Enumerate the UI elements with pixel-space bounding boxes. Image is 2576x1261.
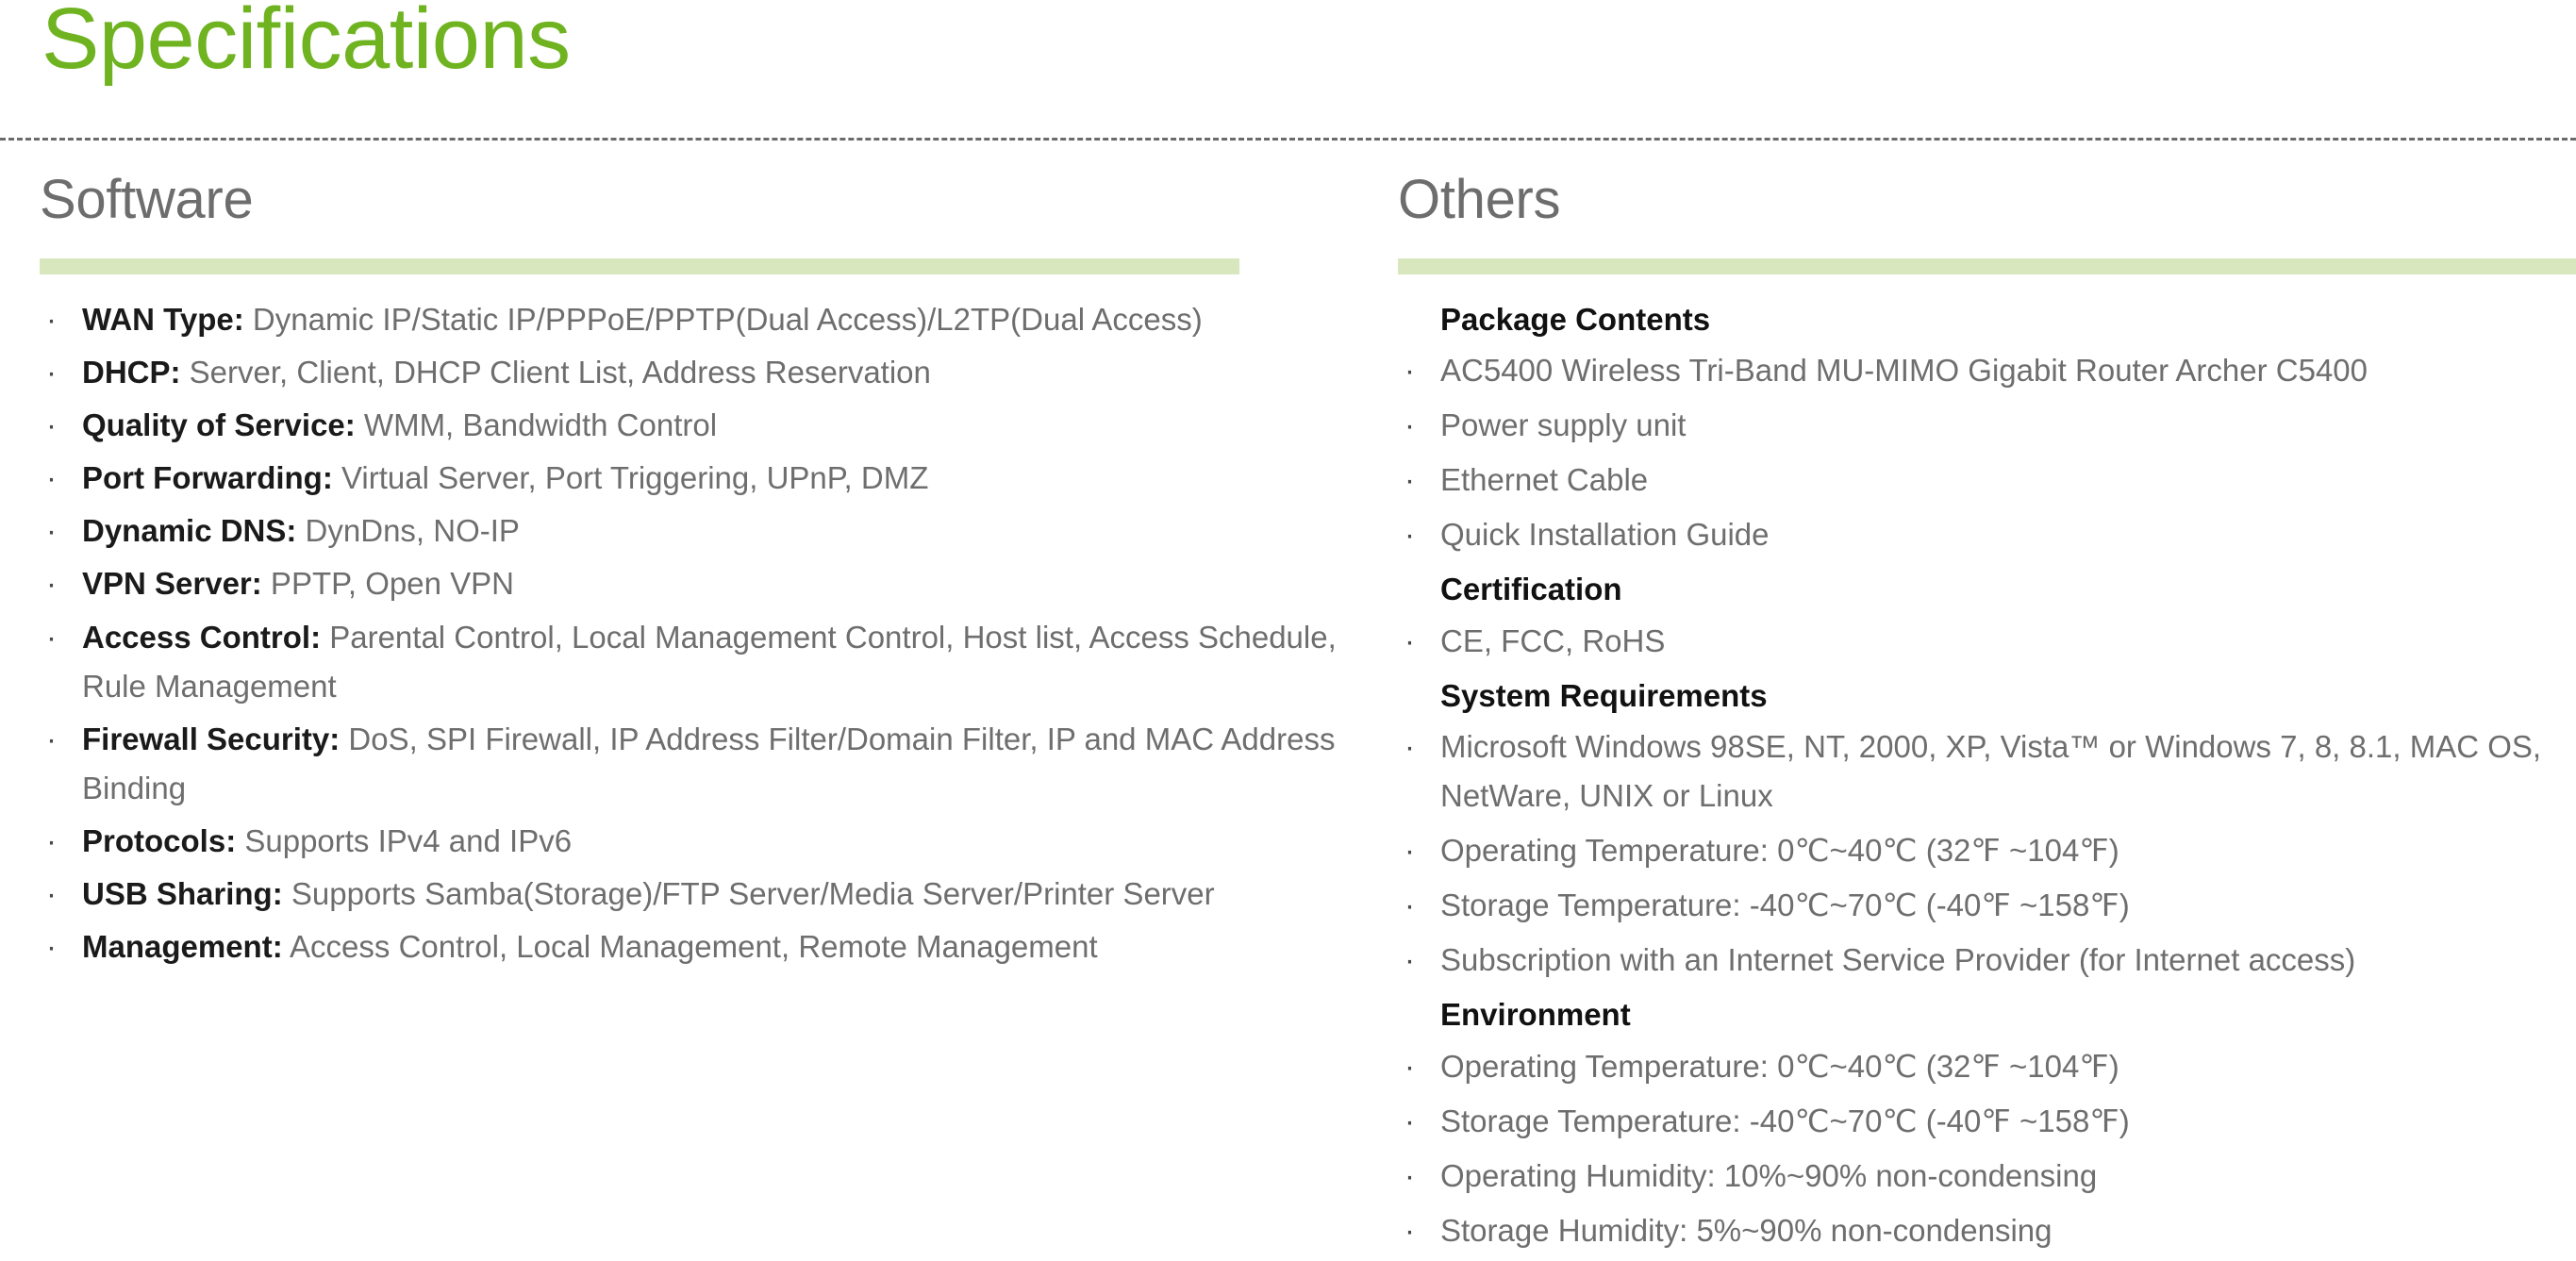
spec-label: Firewall Security: (82, 722, 340, 756)
spec-value: Supports IPv4 and IPv6 (236, 823, 572, 858)
spec-label: Quality of Service: (82, 407, 356, 442)
bullet-icon: · (1404, 1206, 1415, 1255)
spec-value: AC5400 Wireless Tri-Band MU-MIMO Gigabit… (1440, 353, 2368, 388)
bullet-icon: · (46, 401, 57, 450)
bullet-icon: · (46, 506, 57, 556)
spec-value: PPTP, Open VPN (262, 566, 514, 601)
content-columns: Software ·WAN Type: Dynamic IP/Static IP… (0, 166, 2576, 1261)
software-column: Software ·WAN Type: Dynamic IP/Static IP… (0, 166, 1377, 975)
spec-item: ·Storage Humidity: 5%~90% non-condensing (1398, 1206, 2576, 1255)
spec-item: ·Operating Humidity: 10%~90% non-condens… (1398, 1152, 2576, 1201)
spec-value: Server, Client, DHCP Client List, Addres… (181, 355, 931, 390)
spec-label: WAN Type: (82, 302, 244, 337)
spec-value: Storage Humidity: 5%~90% non-condensing (1440, 1213, 2052, 1248)
spec-value: Operating Temperature: 0℃~40℃ (32℉ ~104℉… (1440, 1049, 2119, 1084)
bullet-icon: · (1404, 722, 1415, 772)
bullet-icon: · (1404, 510, 1415, 559)
spec-label: Port Forwarding: (82, 460, 333, 495)
spec-item: ·Microsoft Windows 98SE, NT, 2000, XP, V… (1398, 722, 2576, 821)
spec-label: Access Control: (82, 620, 321, 655)
spec-value: Storage Temperature: -40℃~70℃ (-40℉ ~158… (1440, 888, 2130, 922)
bullet-icon: · (46, 715, 57, 764)
spec-value: Operating Temperature: 0℃~40℃ (32℉ ~104℉… (1440, 833, 2119, 868)
spec-item: ·DHCP: Server, Client, DHCP Client List,… (40, 348, 1377, 397)
bullet-icon: · (46, 559, 57, 608)
spec-label: DHCP: (82, 355, 181, 390)
bullet-icon: · (1404, 346, 1415, 395)
software-list: ·WAN Type: Dynamic IP/Static IP/PPPoE/PP… (40, 295, 1377, 972)
spec-value: Subscription with an Internet Service Pr… (1440, 942, 2355, 977)
spec-label: Protocols: (82, 823, 236, 858)
spec-label: VPN Server: (82, 566, 262, 601)
spec-label: Dynamic DNS: (82, 513, 296, 548)
spec-subheading: Package Contents (1398, 295, 2576, 344)
bullet-icon: · (1404, 1042, 1415, 1091)
spec-value: Power supply unit (1440, 407, 1686, 442)
spec-value: Microsoft Windows 98SE, NT, 2000, XP, Vi… (1440, 729, 2541, 813)
others-list: Package Contents·AC5400 Wireless Tri-Ban… (1398, 295, 2576, 1255)
bullet-icon: · (1404, 456, 1415, 505)
spec-value: Quick Installation Guide (1440, 517, 1770, 552)
others-heading: Others (1398, 166, 2576, 230)
spec-item: ·Firewall Security: DoS, SPI Firewall, I… (40, 715, 1377, 813)
spec-item: ·Operating Temperature: 0℃~40℃ (32℉ ~104… (1398, 1042, 2576, 1091)
spec-value: Dynamic IP/Static IP/PPPoE/PPTP(Dual Acc… (244, 302, 1203, 337)
spec-subheading: Certification (1398, 565, 2576, 614)
spec-item: ·VPN Server: PPTP, Open VPN (40, 559, 1377, 608)
spec-value: Storage Temperature: -40℃~70℃ (-40℉ ~158… (1440, 1103, 2130, 1138)
bullet-icon: · (1404, 936, 1415, 985)
others-column: Others Package Contents·AC5400 Wireless … (1377, 166, 2576, 1261)
spec-value: DynDns, NO-IP (296, 513, 520, 548)
bullet-icon: · (1404, 401, 1415, 450)
spec-subheading: System Requirements (1398, 672, 2576, 721)
spec-value: Operating Humidity: 10%~90% non-condensi… (1440, 1158, 2097, 1193)
specifications-slide: Specifications Software ·WAN Type: Dynam… (0, 0, 2576, 1222)
page-title: Specifications (42, 0, 571, 88)
bullet-icon: · (46, 348, 57, 397)
bullet-icon: · (46, 817, 57, 866)
spec-subheading: Environment (1398, 990, 2576, 1039)
spec-item: ·Subscription with an Internet Service P… (1398, 936, 2576, 985)
spec-item: ·Quality of Service: WMM, Bandwidth Cont… (40, 401, 1377, 450)
bullet-icon: · (1404, 881, 1415, 930)
spec-item: ·Power supply unit (1398, 401, 2576, 450)
bullet-icon: · (1404, 826, 1415, 875)
spec-item: ·WAN Type: Dynamic IP/Static IP/PPPoE/PP… (40, 295, 1377, 344)
software-heading: Software (40, 166, 1377, 230)
spec-item: ·Storage Temperature: -40℃~70℃ (-40℉ ~15… (1398, 1097, 2576, 1146)
spec-item: ·AC5400 Wireless Tri-Band MU-MIMO Gigabi… (1398, 346, 2576, 395)
spec-label: USB Sharing: (82, 876, 283, 911)
spec-item: ·Management: Access Control, Local Manag… (40, 922, 1377, 971)
spec-value: Virtual Server, Port Triggering, UPnP, D… (333, 460, 929, 495)
spec-item: ·Port Forwarding: Virtual Server, Port T… (40, 454, 1377, 503)
spec-item: ·USB Sharing: Supports Samba(Storage)/FT… (40, 870, 1377, 919)
spec-value: CE, FCC, RoHS (1440, 623, 1665, 658)
spec-item: ·Protocols: Supports IPv4 and IPv6 (40, 817, 1377, 866)
bullet-icon: · (1404, 617, 1415, 666)
bullet-icon: · (1404, 1152, 1415, 1201)
bullet-icon: · (46, 454, 57, 503)
bullet-icon: · (46, 870, 57, 919)
spec-item: ·Access Control: Parental Control, Local… (40, 613, 1377, 711)
spec-value: WMM, Bandwidth Control (356, 407, 717, 442)
spec-value: Access Control, Local Management, Remote… (283, 929, 1098, 964)
spec-item: ·CE, FCC, RoHS (1398, 617, 2576, 666)
spec-item: ·Storage Temperature: -40℃~70℃ (-40℉ ~15… (1398, 881, 2576, 930)
spec-value: Ethernet Cable (1440, 462, 1648, 497)
spec-item: ·Operating Temperature: 0℃~40℃ (32℉ ~104… (1398, 826, 2576, 875)
bullet-icon: · (1404, 1097, 1415, 1146)
spec-label: Management: (82, 929, 283, 964)
spec-item: ·Ethernet Cable (1398, 456, 2576, 505)
bullet-icon: · (46, 613, 57, 662)
software-heading-bar (40, 258, 1239, 274)
spec-item: ·Quick Installation Guide (1398, 510, 2576, 559)
spec-value: Supports Samba(Storage)/FTP Server/Media… (283, 876, 1215, 911)
spec-item: ·Dynamic DNS: DynDns, NO-IP (40, 506, 1377, 556)
others-heading-bar (1398, 258, 2576, 274)
bullet-icon: · (46, 295, 57, 344)
bullet-icon: · (46, 922, 57, 971)
title-divider (0, 138, 2576, 141)
